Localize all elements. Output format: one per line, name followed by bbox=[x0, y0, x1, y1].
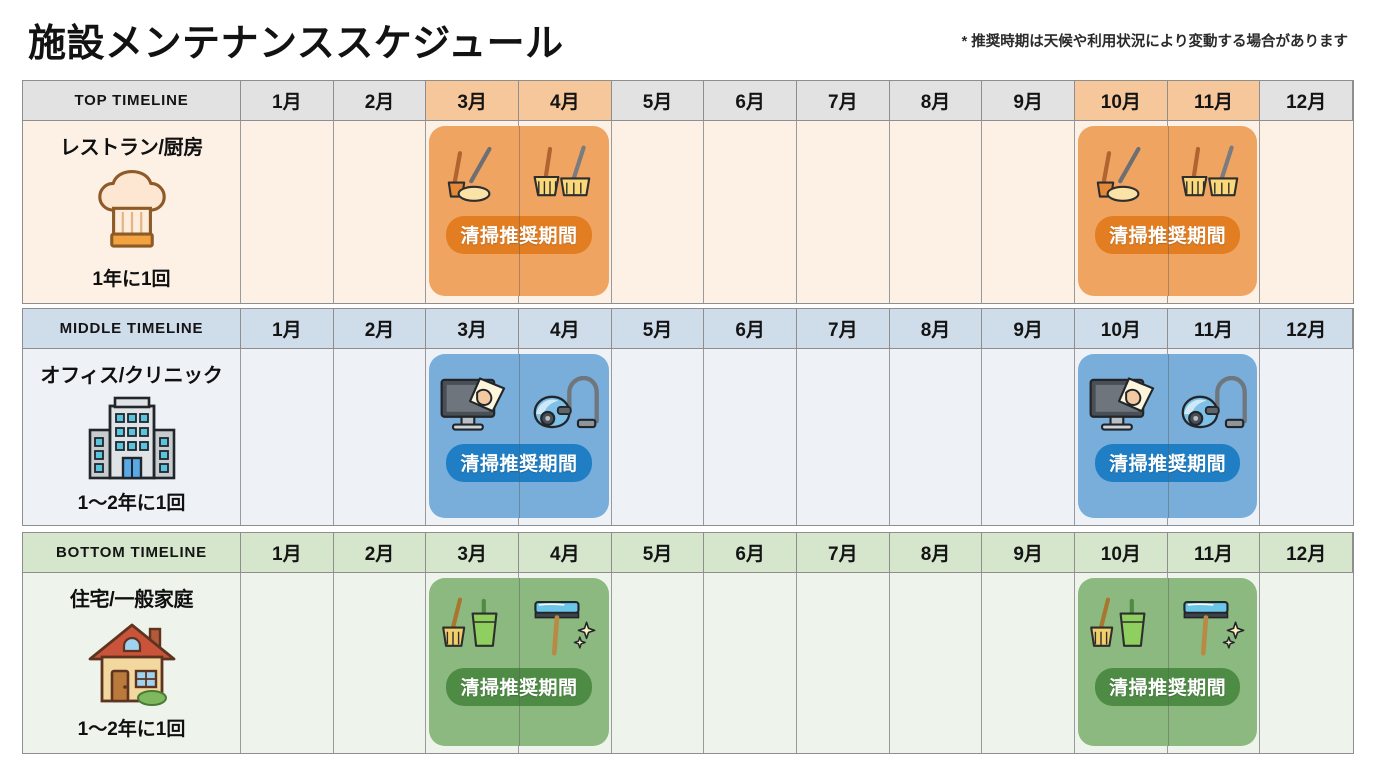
band-month-divider bbox=[1168, 126, 1169, 296]
monitor-wipe-icon bbox=[1085, 368, 1163, 440]
month-cell-6[interactable] bbox=[704, 573, 797, 753]
timeline-header-label: TOP TIMELINE bbox=[23, 81, 241, 121]
month-cell-2[interactable] bbox=[334, 349, 427, 525]
timeline-category-cell: オフィス/クリニック 1〜2年に1回 bbox=[23, 349, 241, 525]
month-header-7[interactable]: 7月 bbox=[797, 533, 890, 573]
month-header-8[interactable]: 8月 bbox=[890, 81, 983, 121]
month-cell-1[interactable] bbox=[241, 573, 334, 753]
month-header-4[interactable]: 4月 bbox=[519, 81, 612, 121]
recommended-period-band[interactable]: 清掃推奨期間 bbox=[429, 126, 608, 296]
month-header-3[interactable]: 3月 bbox=[426, 309, 519, 349]
broom-pair-icon bbox=[1177, 142, 1247, 212]
header-note: * 推奨時期は天候や利用状況により変動する場合があります bbox=[962, 30, 1348, 51]
band-month-divider bbox=[519, 126, 520, 296]
month-header-6[interactable]: 6月 bbox=[704, 533, 797, 573]
month-header-7[interactable]: 7月 bbox=[797, 81, 890, 121]
frequency-label: 1〜2年に1回 bbox=[78, 488, 186, 527]
month-header-8[interactable]: 8月 bbox=[890, 309, 983, 349]
month-cell-2[interactable] bbox=[334, 121, 427, 303]
band-month-divider bbox=[1168, 578, 1169, 746]
month-header-11[interactable]: 11月 bbox=[1168, 81, 1261, 121]
squeegee-icon bbox=[1175, 594, 1249, 664]
timeline-section-top: TOP TIMELINE1月2月3月4月5月6月7月8月9月10月11月12月レ… bbox=[22, 80, 1354, 304]
month-header-12[interactable]: 12月 bbox=[1260, 81, 1353, 121]
frequency-label: 1年に1回 bbox=[92, 264, 170, 303]
month-cell-7[interactable] bbox=[797, 573, 890, 753]
timeline-section-middle: MIDDLE TIMELINE1月2月3月4月5月6月7月8月9月10月11月1… bbox=[22, 308, 1354, 526]
month-header-2[interactable]: 2月 bbox=[334, 533, 427, 573]
month-cell-8[interactable] bbox=[890, 349, 983, 525]
month-cell-2[interactable] bbox=[334, 573, 427, 753]
month-cell-6[interactable] bbox=[704, 121, 797, 303]
recommended-period-band[interactable]: 清掃推奨期間 bbox=[1078, 354, 1257, 518]
month-header-7[interactable]: 7月 bbox=[797, 309, 890, 349]
month-header-6[interactable]: 6月 bbox=[704, 309, 797, 349]
broom-dustpan-green-icon bbox=[438, 594, 510, 664]
month-header-1[interactable]: 1月 bbox=[241, 533, 334, 573]
broom-pair-icon bbox=[529, 142, 599, 212]
recommended-period-band[interactable]: 清掃推奨期間 bbox=[429, 354, 608, 518]
month-header-6[interactable]: 6月 bbox=[704, 81, 797, 121]
month-header-2[interactable]: 2月 bbox=[334, 81, 427, 121]
month-cell-7[interactable] bbox=[797, 121, 890, 303]
month-header-5[interactable]: 5月 bbox=[612, 81, 705, 121]
recommended-period-band[interactable]: 清掃推奨期間 bbox=[1078, 578, 1257, 746]
chef-hat-icon bbox=[23, 160, 240, 264]
month-cell-1[interactable] bbox=[241, 349, 334, 525]
month-cell-12[interactable] bbox=[1260, 349, 1353, 525]
month-header-4[interactable]: 4月 bbox=[519, 533, 612, 573]
band-month-divider bbox=[519, 578, 520, 746]
month-header-4[interactable]: 4月 bbox=[519, 309, 612, 349]
page-header: 施設メンテナンススケジュール * 推奨時期は天候や利用状況により変動する場合があ… bbox=[0, 0, 1376, 78]
category-label: オフィス/クリニック bbox=[40, 359, 222, 388]
timeline-category-cell: 住宅/一般家庭 1〜2年に1回 bbox=[23, 573, 241, 753]
month-header-5[interactable]: 5月 bbox=[612, 533, 705, 573]
squeegee-icon bbox=[526, 594, 600, 664]
recommended-period-band[interactable]: 清掃推奨期間 bbox=[429, 578, 608, 746]
timeline-category-cell: レストラン/厨房 1年に1回 bbox=[23, 121, 241, 303]
month-cell-8[interactable] bbox=[890, 573, 983, 753]
vacuum-cleaner-icon bbox=[1176, 368, 1250, 440]
office-building-icon bbox=[23, 388, 240, 488]
month-header-5[interactable]: 5月 bbox=[612, 309, 705, 349]
month-header-11[interactable]: 11月 bbox=[1168, 309, 1261, 349]
month-header-8[interactable]: 8月 bbox=[890, 533, 983, 573]
month-header-9[interactable]: 9月 bbox=[982, 81, 1075, 121]
month-header-1[interactable]: 1月 bbox=[241, 309, 334, 349]
month-header-1[interactable]: 1月 bbox=[241, 81, 334, 121]
band-month-divider bbox=[519, 354, 520, 518]
month-cell-12[interactable] bbox=[1260, 121, 1353, 303]
vacuum-cleaner-icon bbox=[528, 368, 602, 440]
month-header-3[interactable]: 3月 bbox=[426, 81, 519, 121]
month-header-10[interactable]: 10月 bbox=[1075, 81, 1168, 121]
timeline-section-bottom: BOTTOM TIMELINE1月2月3月4月5月6月7月8月9月10月11月1… bbox=[22, 532, 1354, 754]
month-cell-8[interactable] bbox=[890, 121, 983, 303]
month-cell-5[interactable] bbox=[612, 573, 705, 753]
timeline-header-label: BOTTOM TIMELINE bbox=[23, 533, 241, 573]
month-cell-12[interactable] bbox=[1260, 573, 1353, 753]
timeline-header-label: MIDDLE TIMELINE bbox=[23, 309, 241, 349]
month-cell-6[interactable] bbox=[704, 349, 797, 525]
month-header-12[interactable]: 12月 bbox=[1260, 533, 1353, 573]
month-cell-5[interactable] bbox=[612, 349, 705, 525]
dustpan-broom-icon bbox=[439, 142, 509, 212]
page-title: 施設メンテナンススケジュール bbox=[28, 12, 564, 67]
month-cell-7[interactable] bbox=[797, 349, 890, 525]
month-cell-9[interactable] bbox=[982, 121, 1075, 303]
month-header-9[interactable]: 9月 bbox=[982, 533, 1075, 573]
month-cell-9[interactable] bbox=[982, 349, 1075, 525]
month-header-12[interactable]: 12月 bbox=[1260, 309, 1353, 349]
month-header-3[interactable]: 3月 bbox=[426, 533, 519, 573]
house-icon bbox=[23, 612, 240, 714]
month-cell-9[interactable] bbox=[982, 573, 1075, 753]
month-cell-1[interactable] bbox=[241, 121, 334, 303]
monitor-wipe-icon bbox=[436, 368, 514, 440]
month-cell-5[interactable] bbox=[612, 121, 705, 303]
month-header-11[interactable]: 11月 bbox=[1168, 533, 1261, 573]
month-header-10[interactable]: 10月 bbox=[1075, 309, 1168, 349]
category-label: レストラン/厨房 bbox=[60, 131, 203, 160]
band-month-divider bbox=[1168, 354, 1169, 518]
month-header-9[interactable]: 9月 bbox=[982, 309, 1075, 349]
broom-dustpan-green-icon bbox=[1086, 594, 1158, 664]
category-label: 住宅/一般家庭 bbox=[70, 583, 193, 612]
month-header-2[interactable]: 2月 bbox=[334, 309, 427, 349]
dustpan-broom-icon bbox=[1088, 142, 1158, 212]
month-header-10[interactable]: 10月 bbox=[1075, 533, 1168, 573]
frequency-label: 1〜2年に1回 bbox=[78, 714, 186, 753]
recommended-period-band[interactable]: 清掃推奨期間 bbox=[1078, 126, 1257, 296]
